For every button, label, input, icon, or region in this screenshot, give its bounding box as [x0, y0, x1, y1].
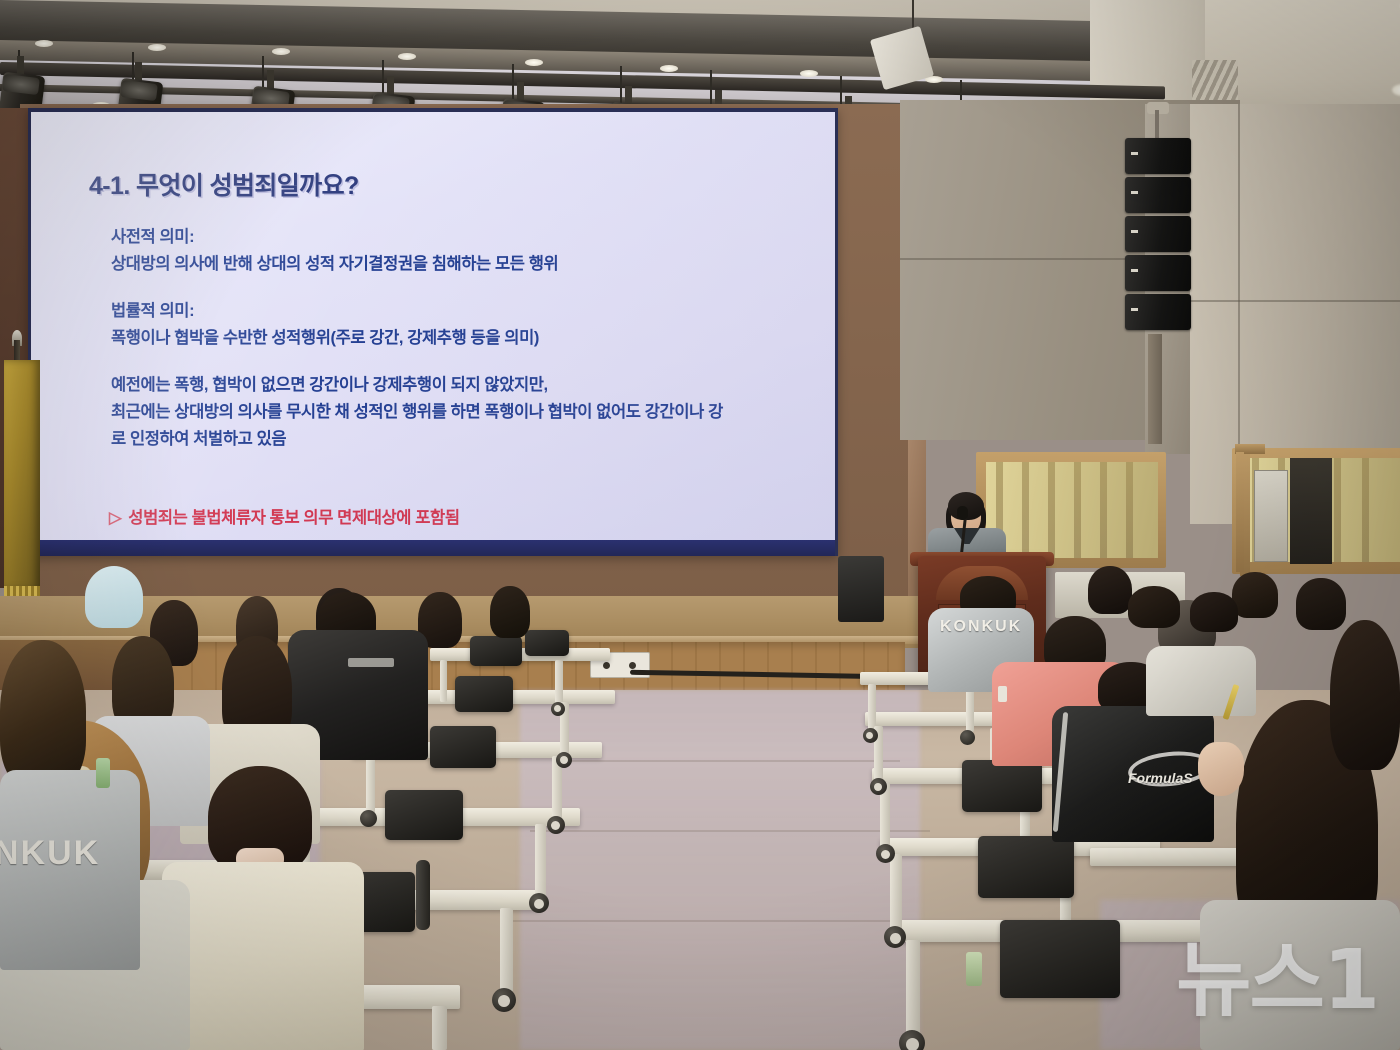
water-bottle [966, 952, 982, 986]
recessed-can-icon [398, 53, 416, 60]
student-head [490, 586, 530, 638]
equipment-cabinet [1254, 470, 1288, 562]
slide-line: 상대방의 의사에 반해 상대의 성적 자기결정권을 침해하는 모든 행위 [111, 251, 835, 278]
slide-block-1: 사전적 의미: 상대방의 의사에 반해 상대의 성적 자기결정권을 침해하는 모… [111, 224, 835, 278]
chair [385, 790, 463, 840]
slide-paragraph: 예전에는 폭행, 협박이 없으면 강간이나 강제추행이 되지 않았지만, 최근에… [111, 372, 835, 453]
recessed-can-icon [525, 59, 543, 66]
slide-title: 4-1. 무엇이 성범죄일까요? [89, 166, 359, 202]
stage-monitor-speaker [838, 556, 884, 622]
slide-heading: 법률적 의미: [111, 298, 835, 325]
jacket-text-formula: FormulaS [1128, 770, 1193, 786]
student-hand [1198, 742, 1244, 796]
chair [455, 676, 513, 712]
recessed-can-icon [800, 70, 818, 77]
projection-screen: 4-1. 무엇이 성범죄일까요? 사전적 의미: 상대방의 의사에 반해 상대의… [31, 112, 835, 544]
chair-arm [416, 860, 430, 930]
lecture-hall-photo: 4-1. 무엇이 성범죄일까요? 사전적 의미: 상대방의 의사에 반해 상대의… [0, 0, 1400, 1050]
slide-block-2: 법률적 의미: 폭행이나 협박을 수반한 성적행위(주로 강간, 강제추행 등을… [111, 298, 835, 352]
dark-doorway [1290, 458, 1332, 564]
student-head [1190, 592, 1238, 632]
recessed-can-icon [272, 48, 290, 55]
chair [430, 726, 496, 768]
student-head [1232, 572, 1278, 618]
student-torso [162, 862, 364, 1050]
student-head [1088, 566, 1132, 614]
slide-line: 폭행이나 협박을 수반한 성적행위(주로 강간, 강제추행 등을 의미) [111, 325, 835, 352]
recessed-can-icon [148, 44, 166, 51]
slide-paragraph-line: 예전에는 폭행, 협박이 없으면 강간이나 강제추행이 되지 않았지만, [111, 372, 835, 399]
chair [525, 630, 569, 656]
student-torso [1146, 646, 1256, 716]
slide-paragraph-line: 최근에는 상대방의 의사를 무시한 채 성적인 행위를 하면 폭행이나 협박이 … [111, 399, 835, 426]
student-head [1128, 586, 1180, 628]
speaker-support-pole [1148, 334, 1162, 444]
jacket-text-konkuk: NKUK [0, 834, 100, 873]
slide-body: 사전적 의미: 상대방의 의사에 반해 상대의 성적 자기결정권을 침해하는 모… [111, 224, 835, 473]
water-bottle [96, 758, 110, 788]
desk-caster [960, 730, 975, 745]
slide-paragraph-line: 로 인정하여 처벌하고 있음 [111, 426, 835, 453]
chair [978, 836, 1074, 898]
chair [470, 636, 522, 666]
triangle-bullet-icon: ▷ [109, 509, 121, 527]
chair [1000, 920, 1120, 998]
slide-highlight-text: 성범죄는 불법체류자 통보 의무 면제대상에 포함됨 [128, 509, 459, 527]
jacket-logo [348, 658, 394, 667]
slide-heading: 사전적 의미: [111, 224, 835, 251]
jacket-text-konkuk: KONKUK [940, 618, 1022, 636]
student-head [0, 640, 86, 788]
recessed-can-icon [35, 40, 53, 47]
recessed-can-icon [660, 65, 678, 72]
ceremonial-flag [4, 360, 40, 590]
desk-item [998, 686, 1007, 702]
student-hood [85, 566, 143, 628]
slide-highlight-note: ▷성범죄는 불법체류자 통보 의무 면제대상에 포함됨 [109, 504, 460, 528]
microphone-icon [957, 506, 968, 520]
student-head [1330, 620, 1400, 770]
line-array-speaker [1125, 138, 1191, 338]
chair [962, 760, 1042, 812]
student-head [1296, 578, 1346, 630]
slide-bottom-band [31, 540, 835, 556]
watermark: 뉴스1 [1176, 913, 1378, 1032]
desk-caster [360, 810, 377, 827]
